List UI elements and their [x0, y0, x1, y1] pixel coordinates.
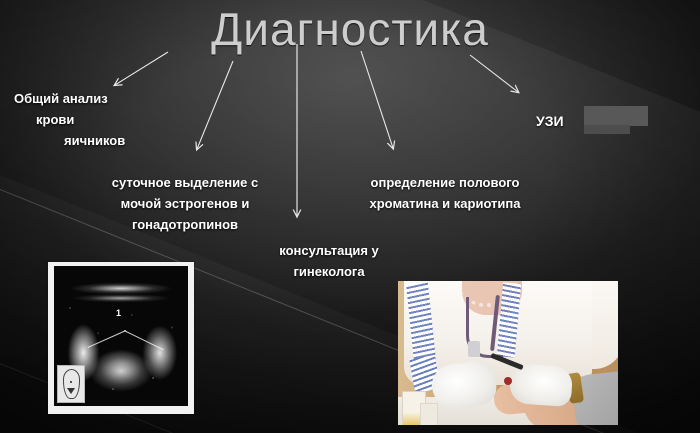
body-outline-shape [63, 369, 80, 399]
photo-gloved-hand-left [430, 360, 498, 410]
label-urine-hormones-line-1: суточное выделение с [80, 172, 290, 193]
ultrasound-scan-content: 1 [54, 266, 188, 406]
label-urine-hormones-line-3: гонадотропинов [80, 214, 290, 235]
label-blood-test-line-3: яичников [14, 130, 125, 151]
label-gynecologist-line-2: гинеколога [245, 261, 413, 282]
probe-direction-icon [67, 388, 75, 394]
ultrasound-measurement-label: 1 [116, 308, 121, 318]
label-blood-test: Общий анализ крови яичников [14, 88, 125, 151]
label-urine-hormones-line-2: мочой эстрогенов и [80, 193, 290, 214]
label-urine-hormones: суточное выделение с мочой эстрогенов и … [80, 172, 290, 235]
label-chromatin-karyotype: определение полового хроматина и кариоти… [340, 172, 550, 214]
photo-sample-vial-2 [420, 403, 438, 425]
label-chromatin-line-1: определение полового [340, 172, 550, 193]
redaction-box-secondary [584, 125, 630, 134]
redaction-box-primary [584, 106, 648, 126]
photo-id-badge [468, 341, 480, 357]
photo-gloved-hand-right [509, 363, 574, 407]
label-blood-test-line-1: Общий анализ [14, 88, 125, 109]
label-gynecologist-line-1: консультация у [245, 240, 413, 261]
photo-blood-drop [504, 377, 512, 385]
ultrasound-scan-image: 1 [48, 262, 194, 414]
clinic-photo-image [398, 281, 618, 425]
label-ultrasound: УЗИ [536, 110, 564, 133]
label-gynecologist-consult: консультация у гинеколога [245, 240, 413, 282]
label-blood-test-line-2: крови [14, 109, 125, 130]
presentation-slide: Диагностика Общий анализ крови яичников … [0, 0, 700, 433]
label-chromatin-line-2: хроматина и кариотипа [340, 193, 550, 214]
body-marker-dot [70, 381, 72, 383]
slide-title: Диагностика [0, 2, 700, 56]
body-position-icon [57, 365, 85, 403]
